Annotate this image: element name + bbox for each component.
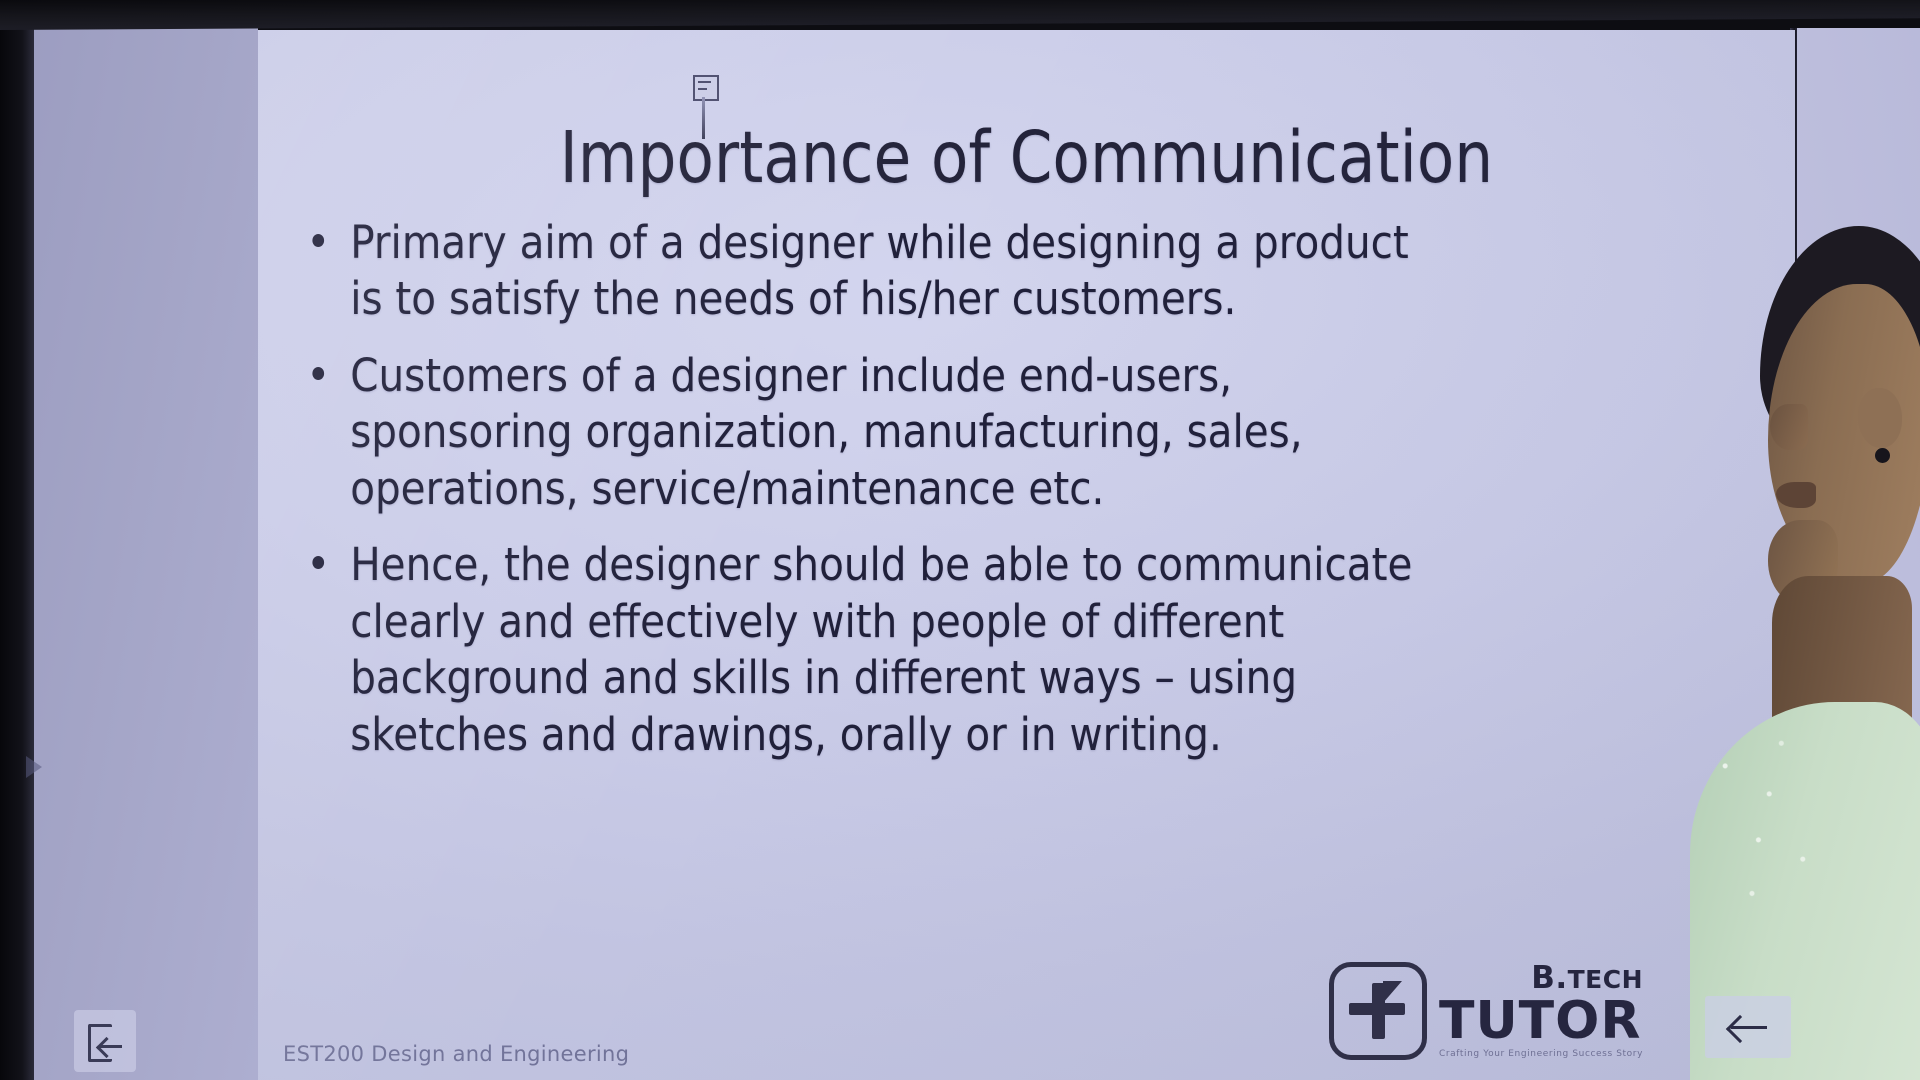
text-cursor-artifact-icon [693, 75, 715, 139]
bullet-dot-icon [312, 556, 324, 569]
list-item: Primary aim of a designer while designin… [280, 215, 1450, 328]
exit-icon [88, 1024, 122, 1058]
presentation-slide[interactable]: Importance of Communication Primary aim … [258, 30, 1795, 1080]
arrow-left-icon [1727, 1016, 1769, 1038]
play-triangle-icon[interactable] [26, 756, 42, 778]
arrow-head-shape [1726, 1015, 1754, 1043]
cursor-box-shape [693, 75, 719, 101]
btech-tutor-logo: B.TECH TUTOR Crafting Your Engineering S… [1329, 962, 1643, 1060]
t-flag-shape [1383, 981, 1402, 1003]
presenter-ear [1858, 388, 1902, 448]
presenter-lips [1776, 482, 1816, 508]
slide-footer-course-label: EST200 Design and Engineering [283, 1042, 629, 1066]
cursor-stem-shape [702, 97, 705, 139]
logo-tagline: Crafting Your Engineering Success Story [1439, 1050, 1643, 1059]
screen-bezel-left [0, 28, 34, 1080]
t-letter-mark-icon [1329, 962, 1427, 1060]
presenter-nose [1770, 404, 1808, 450]
cursor-line-2 [698, 88, 707, 90]
presenter-person [1690, 0, 1920, 1080]
screen-bezel-top [0, 0, 1920, 30]
bullet-text: Hence, the designer should be able to co… [350, 537, 1450, 763]
cursor-line-1 [698, 81, 711, 83]
presenter-earring [1875, 448, 1890, 463]
bullet-dot-icon [312, 234, 324, 247]
list-item: Hence, the designer should be able to co… [280, 537, 1450, 763]
previous-slide-button[interactable] [1705, 996, 1791, 1058]
screenshot-stage: Importance of Communication Primary aim … [0, 0, 1920, 1080]
bullet-text: Primary aim of a designer while designin… [350, 215, 1450, 328]
logo-brand-tech: TECH [1568, 965, 1643, 994]
room-wall-left [0, 28, 258, 1080]
logo-brand-top: B.TECH [1531, 963, 1643, 994]
bullet-dot-icon [312, 367, 324, 380]
t-bar-shape [1349, 1003, 1405, 1015]
slide-title: Importance of Communication [366, 122, 1688, 193]
exit-button[interactable] [74, 1010, 136, 1072]
logo-brand-main: TUTOR [1439, 995, 1643, 1047]
slide-bullet-list: Primary aim of a designer while designin… [280, 215, 1580, 783]
logo-wordmark: B.TECH TUTOR Crafting Your Engineering S… [1439, 963, 1643, 1059]
list-item: Customers of a designer include end-user… [280, 348, 1450, 517]
bullet-text: Customers of a designer include end-user… [350, 348, 1450, 517]
